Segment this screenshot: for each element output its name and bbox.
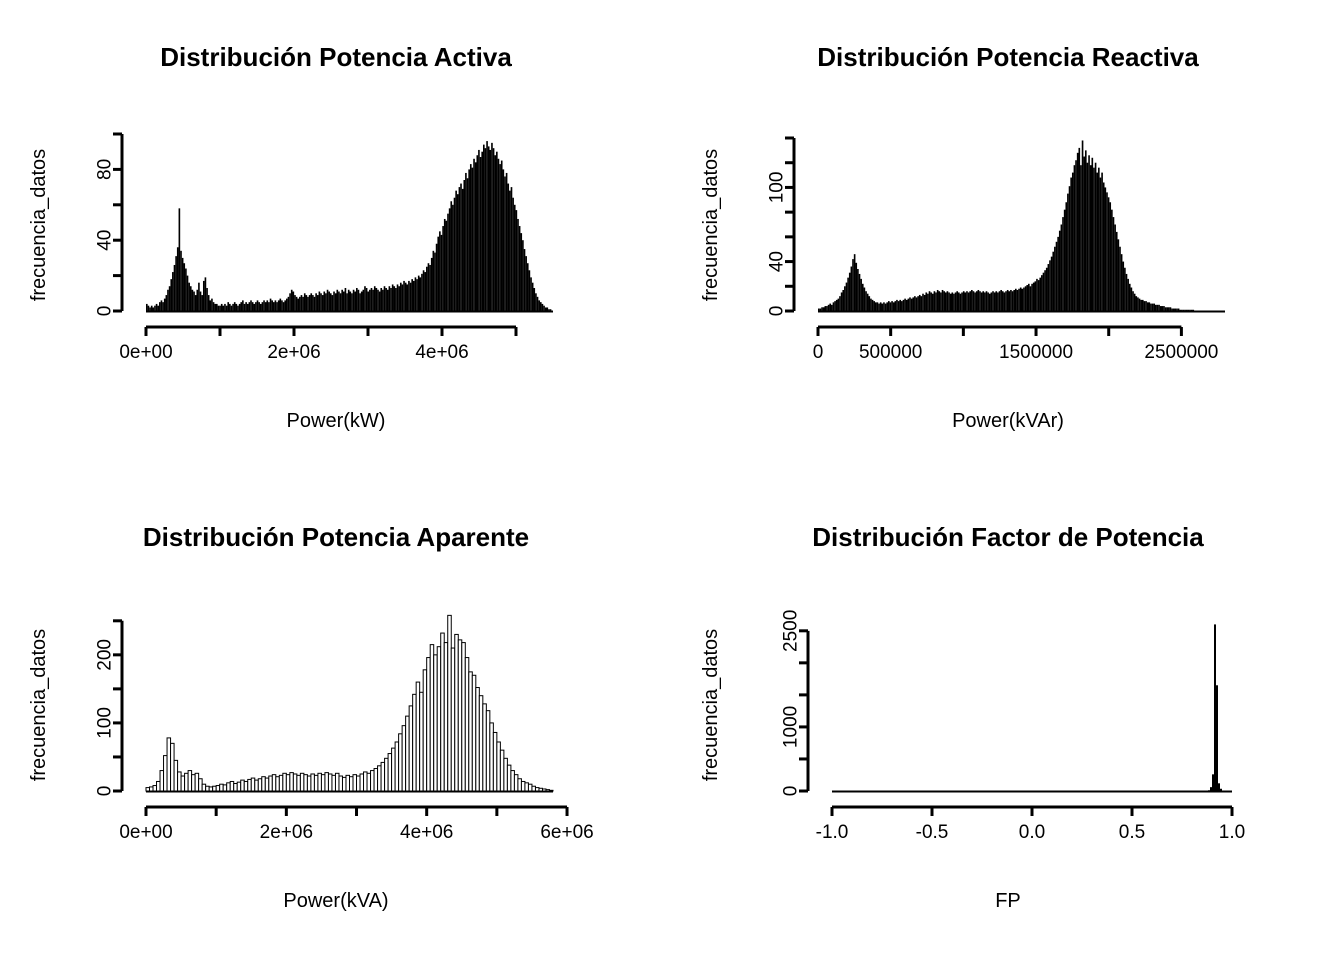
histogram-bar <box>307 776 311 791</box>
histogram-bar <box>960 294 962 311</box>
histogram-bar <box>1078 148 1080 311</box>
histogram-bar <box>525 256 527 311</box>
histogram-bar <box>323 292 325 311</box>
histogram-bar <box>1087 163 1089 311</box>
histogram-bar <box>157 306 159 311</box>
histogram-bar <box>328 292 330 311</box>
histogram-bar <box>208 295 210 311</box>
histogram-bar <box>1017 290 1019 311</box>
histogram-bar <box>1153 304 1155 311</box>
histogram-bar <box>283 773 287 791</box>
histogram-bar <box>1080 165 1082 311</box>
histogram-bar <box>968 292 970 311</box>
histogram-bar <box>395 742 399 791</box>
x-axis-tick-label: 0.0 <box>1019 822 1045 843</box>
histogram-bar <box>1131 288 1133 311</box>
histogram-bar <box>973 291 975 311</box>
histogram-bar <box>883 302 885 311</box>
histogram-bar <box>885 304 887 311</box>
histogram-bar <box>297 299 299 311</box>
x-axis-tick-label: 2e+06 <box>260 822 313 843</box>
histogram-bar <box>940 292 942 311</box>
histogram-bar <box>195 773 199 791</box>
histogram-bar <box>389 286 391 311</box>
histogram-bar <box>1026 285 1028 311</box>
histogram-bar <box>1144 301 1146 311</box>
histogram-bar <box>413 694 417 791</box>
histogram-bar <box>529 270 531 311</box>
histogram-bar <box>956 291 958 311</box>
histogram-bar <box>146 304 148 311</box>
histogram-bar <box>321 775 325 791</box>
histogram-bar <box>890 302 892 311</box>
histogram-bar <box>188 771 192 791</box>
histogram-bar <box>538 300 540 311</box>
histogram-bar <box>1165 307 1167 311</box>
histogram-bar <box>406 284 408 311</box>
histogram-bar <box>385 758 389 791</box>
histogram-bar <box>364 772 368 791</box>
histogram-bar <box>1157 305 1159 311</box>
histogram-bar <box>1147 302 1149 311</box>
x-axis-tick-label: 0e+00 <box>119 342 172 363</box>
histogram-bar <box>262 777 266 791</box>
histogram-bar <box>1061 225 1063 312</box>
histogram-bar <box>226 306 228 311</box>
histogram-bar <box>844 286 846 311</box>
histogram-bar <box>1069 186 1071 311</box>
histogram-bar <box>325 773 329 791</box>
histogram-bar <box>839 296 841 311</box>
histogram-bar <box>237 306 239 311</box>
y-axis-tick-label: 0 <box>767 306 788 317</box>
histogram-bar <box>166 295 168 311</box>
panel-potencia-activa: Distribución Potencia Activa frecuencia_… <box>0 0 672 480</box>
histogram-bar <box>987 292 989 311</box>
histogram-bar <box>364 286 366 311</box>
histogram-bar <box>223 306 225 311</box>
histogram-bar <box>234 302 236 311</box>
histogram-bar <box>888 301 890 311</box>
histogram-bar <box>402 284 404 311</box>
histogram-bar <box>434 253 436 311</box>
x-axis-tick-label: -0.5 <box>916 822 949 843</box>
histogram-bar <box>865 291 867 311</box>
histogram-bar <box>429 265 431 311</box>
histogram-bar <box>997 292 999 311</box>
y-axis-tick-label: 80 <box>95 159 116 180</box>
y-axis-tick-label: 0 <box>95 786 116 797</box>
histogram-bar <box>296 297 298 311</box>
histogram-bar <box>948 292 950 311</box>
histogram-bar <box>490 723 494 791</box>
histogram-bar <box>377 290 379 311</box>
histogram-bar <box>154 306 156 311</box>
histogram-bar <box>1214 624 1216 791</box>
histogram-bar <box>231 306 233 311</box>
histogram-bar <box>854 254 856 311</box>
histogram-bar <box>1108 197 1110 311</box>
histogram-bar <box>266 300 268 311</box>
histogram-bar <box>272 775 276 791</box>
histogram-bar <box>846 283 848 311</box>
histogram-bar <box>426 267 428 311</box>
histogram-bar <box>199 779 203 791</box>
histogram-bar <box>1030 286 1032 311</box>
histogram-bar <box>367 773 371 791</box>
x-axis-tick-label: 4e+06 <box>415 342 468 363</box>
histogram-bar <box>1048 264 1050 311</box>
histogram-bar <box>995 291 997 311</box>
histogram-bar <box>216 304 218 311</box>
histogram-bar <box>327 290 329 311</box>
histogram-bar <box>302 297 304 311</box>
histogram-bar <box>450 201 452 311</box>
histogram-bar <box>201 295 203 311</box>
histogram-bar <box>448 615 452 791</box>
histogram-bar <box>880 302 882 311</box>
histogram-bar <box>955 292 957 311</box>
histogram-bar <box>1114 225 1116 312</box>
histogram-bar <box>1020 288 1022 311</box>
histogram-bar <box>1025 286 1027 311</box>
histogram-bar <box>908 299 910 311</box>
histogram-bar <box>395 288 397 311</box>
histogram-bar <box>929 291 931 311</box>
histogram-bar <box>945 292 947 311</box>
histogram-bar <box>380 288 382 311</box>
histogram-bar <box>348 290 350 311</box>
histogram-bar <box>862 284 864 311</box>
histogram-bar <box>831 305 833 311</box>
histogram-bar <box>224 304 226 311</box>
histogram-bar <box>1054 247 1056 311</box>
histogram-bar <box>934 291 936 311</box>
histogram-bar <box>183 263 185 311</box>
histogram-bar <box>994 292 996 311</box>
histogram-bar <box>333 292 335 311</box>
histogram-bar <box>1132 291 1134 311</box>
histogram-bar <box>527 263 529 311</box>
histogram-bar <box>507 765 511 791</box>
histogram-bar <box>1036 279 1038 311</box>
histogram-bar <box>1008 291 1010 311</box>
histogram-bar <box>420 692 424 791</box>
histogram-bar <box>216 786 220 791</box>
histogram-bar <box>206 288 208 311</box>
histogram-bar <box>408 281 410 311</box>
histogram-bar <box>507 184 509 311</box>
histogram-bar <box>895 301 897 311</box>
histogram-bar <box>1072 173 1074 311</box>
histogram-bar <box>1105 187 1107 311</box>
histogram-bar <box>922 294 924 311</box>
histogram-bar <box>371 771 375 791</box>
histogram-bar <box>465 658 469 791</box>
y-axis-tick-label: 100 <box>767 172 788 204</box>
histogram-bar <box>1168 307 1170 311</box>
histogram-bar <box>834 301 836 311</box>
histogram-bar <box>284 300 286 311</box>
histogram-bar <box>504 758 508 791</box>
histogram-bar <box>174 760 178 791</box>
histogram-bar <box>864 288 866 311</box>
histogram-bar <box>849 273 851 311</box>
histogram-bar <box>312 295 314 311</box>
histogram-plot: 040800e+002e+064e+06 <box>0 0 672 480</box>
histogram-bar <box>514 775 518 791</box>
histogram-bar <box>220 784 224 791</box>
histogram-bar <box>1098 168 1100 311</box>
histogram-bar <box>358 290 360 311</box>
histogram-bar <box>943 291 945 311</box>
histogram-bar <box>868 296 870 311</box>
histogram-bar <box>150 787 154 791</box>
histogram-bar <box>924 295 926 311</box>
histogram-bar <box>1218 783 1220 791</box>
histogram-bar <box>1142 300 1144 311</box>
histogram-bar <box>963 291 965 311</box>
x-axis: 0e+002e+064e+06 <box>119 327 516 363</box>
histogram-bar <box>851 267 853 311</box>
histogram-bar <box>886 302 888 311</box>
histogram-bar <box>478 150 480 311</box>
histogram-bar <box>898 301 900 311</box>
histogram-bar <box>175 256 177 311</box>
histogram-bar <box>469 672 473 791</box>
histogram-bar <box>1119 247 1121 311</box>
histogram-bar <box>361 292 363 311</box>
x-axis: -1.0-0.50.00.51.0 <box>816 807 1246 843</box>
histogram-bar <box>444 643 448 791</box>
histogram-bar <box>1216 685 1218 791</box>
histogram-bar <box>301 295 303 311</box>
histogram-bar <box>950 294 952 311</box>
histogram-bar <box>512 198 514 311</box>
histogram-bar <box>286 775 290 791</box>
histogram-bar <box>961 292 963 311</box>
histogram-bar <box>162 302 164 311</box>
histogram-bar <box>974 292 976 311</box>
histogram-bar <box>516 210 518 311</box>
histogram-bar <box>367 292 369 311</box>
histogram-bar <box>914 296 916 311</box>
histogram-bar <box>978 290 980 311</box>
histogram-bar <box>1088 155 1090 311</box>
histogram-bar <box>374 769 378 791</box>
histogram-bar <box>470 164 472 311</box>
histogram-bar <box>291 290 293 311</box>
histogram-bar <box>252 302 254 311</box>
histogram-bar <box>525 783 529 791</box>
histogram-bar <box>400 283 402 311</box>
histogram-bar <box>483 145 485 311</box>
histogram-bar <box>431 258 433 311</box>
histogram-bar <box>268 302 270 311</box>
histogram-bar <box>999 291 1001 311</box>
y-axis-tick-label: 40 <box>767 251 788 272</box>
histogram-bar <box>535 293 537 311</box>
histogram-bar <box>379 292 381 311</box>
histogram-bar <box>870 299 872 311</box>
histogram-bar <box>297 775 301 791</box>
histogram-bar <box>265 302 267 311</box>
histogram-bar <box>1012 291 1014 311</box>
histogram-bar <box>1033 283 1035 311</box>
x-axis-label: FP <box>672 890 1344 913</box>
histogram-bar <box>497 742 501 791</box>
histogram-plot: 040100050000015000002500000 <box>672 0 1344 480</box>
histogram-bar <box>416 682 420 791</box>
histogram-bar <box>1057 237 1059 311</box>
histogram-bar <box>524 249 526 311</box>
histogram-bar <box>543 306 545 311</box>
histogram-bar <box>952 292 954 311</box>
histogram-bar <box>1064 210 1066 311</box>
histogram-bar <box>829 304 831 311</box>
histogram-plot: 010002500-1.0-0.50.00.51.0 <box>672 480 1344 960</box>
histogram-bar <box>374 286 376 311</box>
histogram-bar <box>873 301 875 311</box>
x-axis-tick-label: 2e+06 <box>267 342 320 363</box>
histogram-bar <box>213 786 217 791</box>
histogram-bar <box>381 762 385 791</box>
histogram-bar <box>159 302 161 311</box>
histogram-bar <box>859 274 861 311</box>
histogram-bar <box>821 307 823 311</box>
histogram-bar <box>410 283 412 311</box>
histogram-bar <box>223 785 227 791</box>
histogram-bar <box>480 157 482 311</box>
histogram-bar <box>276 777 280 791</box>
histogram-bar <box>498 159 500 311</box>
histogram-bar <box>1038 280 1040 311</box>
histogram-bar <box>984 292 986 311</box>
histogram-bar <box>932 294 934 311</box>
histogram-bar <box>1039 278 1041 311</box>
histogram-bar <box>847 278 849 311</box>
histogram-bar <box>1148 302 1150 311</box>
histogram-bar <box>904 299 906 311</box>
histogram-bar <box>953 294 955 311</box>
histogram-bar <box>363 290 365 311</box>
histogram-bar <box>260 304 262 311</box>
histogram-bar <box>458 640 462 791</box>
histogram-bar <box>1106 192 1108 311</box>
histogram-bar <box>399 734 403 791</box>
histogram-bar <box>230 781 234 791</box>
histogram-bar <box>294 295 296 311</box>
panel-factor-de-potencia: Distribución Factor de Potencia frecuenc… <box>672 480 1344 960</box>
x-axis-tick-label: 500000 <box>859 342 922 363</box>
figure-grid: Distribución Potencia Activa frecuencia_… <box>0 0 1344 960</box>
histogram-bar <box>293 774 297 791</box>
histogram-bar <box>447 214 449 311</box>
histogram-bar <box>357 776 361 791</box>
histogram-bar <box>517 219 519 311</box>
histogram-bar <box>1052 252 1054 311</box>
histogram-bar <box>411 279 413 311</box>
histogram-bar <box>350 292 352 311</box>
histogram-bar <box>384 286 386 311</box>
histogram-bar <box>878 304 880 311</box>
histogram-bar <box>872 300 874 311</box>
histogram-bar <box>240 302 242 311</box>
histogram-bar <box>472 168 474 311</box>
histogram-bars <box>832 624 1232 791</box>
histogram-bar <box>335 773 339 791</box>
histogram-bar <box>385 288 387 311</box>
histogram-bar <box>494 155 496 311</box>
x-axis-tick-label: 0 <box>813 342 824 363</box>
histogram-bar <box>346 293 348 311</box>
histogram-bar <box>359 293 361 311</box>
histogram-bar <box>153 786 157 791</box>
histogram-bar <box>857 269 859 311</box>
histogram-bar <box>825 306 827 311</box>
histogram-bar <box>493 732 497 791</box>
histogram-bar <box>1127 279 1129 311</box>
y-axis-tick-label: 0 <box>781 786 802 797</box>
histogram-bar <box>877 302 879 311</box>
histogram-bar <box>406 716 410 791</box>
histogram-bar <box>1074 165 1076 311</box>
histogram-bar <box>441 633 445 791</box>
histogram-bar <box>842 290 844 311</box>
y-axis: 010002500 <box>781 610 809 797</box>
histogram-bar <box>535 788 539 791</box>
histogram-bar <box>518 779 522 791</box>
histogram-bar <box>852 259 854 311</box>
histogram-bar <box>167 290 169 311</box>
histogram-bar <box>164 299 166 311</box>
histogram-bar <box>167 738 171 791</box>
histogram-bar <box>441 235 443 311</box>
histogram-bar <box>1085 150 1087 311</box>
histogram-bar <box>198 283 200 311</box>
histogram-bar <box>1046 268 1048 311</box>
histogram-bar <box>258 779 262 791</box>
histogram-bar <box>309 295 311 311</box>
histogram-bar <box>280 299 282 311</box>
histogram-bar <box>311 774 315 791</box>
histogram-bar <box>451 648 455 791</box>
histogram-bar <box>244 304 246 311</box>
histogram-bar <box>213 302 215 311</box>
histogram-bar <box>232 304 234 311</box>
histogram-bar <box>319 292 321 311</box>
histogram-bar <box>1065 202 1067 311</box>
histogram-bar <box>392 284 394 311</box>
histogram-bars <box>818 140 1225 311</box>
histogram-bar <box>1075 160 1077 311</box>
histogram-bar <box>1082 140 1084 311</box>
x-axis-tick-label: 1.0 <box>1219 822 1245 843</box>
histogram-bar <box>916 297 918 311</box>
histogram-bar <box>473 159 475 311</box>
histogram-bar <box>1095 163 1097 311</box>
histogram-bar <box>369 290 371 311</box>
histogram-bar <box>239 304 241 311</box>
histogram-bar <box>350 777 354 791</box>
histogram-bar <box>174 265 176 311</box>
histogram-bar <box>942 290 944 311</box>
histogram-bar <box>836 300 838 311</box>
histogram-bar <box>532 786 536 791</box>
histogram-bar <box>841 292 843 311</box>
histogram-bar <box>428 263 430 311</box>
x-axis-label: Power(kVA) <box>0 890 672 913</box>
